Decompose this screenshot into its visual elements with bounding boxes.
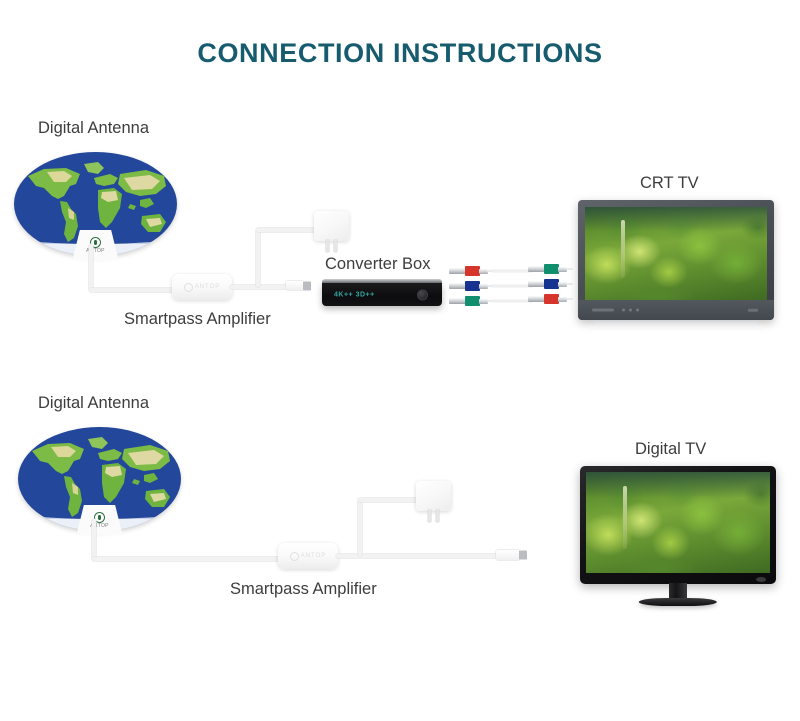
converter-box: 4K++ 3D++ — [322, 279, 442, 306]
amplifier-body: ANTOP — [278, 543, 338, 569]
label-converter-box: Converter Box — [325, 255, 430, 274]
coax-tip — [303, 281, 311, 290]
adapter-prong-left — [326, 240, 329, 252]
rca-ring-green — [465, 296, 480, 306]
smartpass-amplifier-bottom: ANTOP — [278, 543, 338, 569]
rca-ring-red — [465, 266, 480, 276]
label-digital-antenna-top: Digital Antenna — [38, 119, 149, 138]
adapter-body — [314, 211, 349, 241]
screen-forest-image — [585, 207, 767, 300]
rca-plug-red — [449, 266, 493, 276]
rca-ring-blue — [465, 281, 480, 291]
amplifier-logo: ANTOP — [184, 283, 221, 292]
power-adapter-top — [314, 211, 349, 241]
rca-connectors-right — [528, 264, 578, 306]
cable-amp-branch-up-bottom — [358, 499, 362, 556]
digital-tv-screen — [586, 472, 770, 573]
adapter-prong-right — [436, 510, 439, 522]
rca-plug-blue-2 — [528, 279, 572, 289]
cable-antenna-down-bottom — [92, 519, 96, 559]
antenna-logo-tab: ANTOP — [77, 505, 123, 535]
cable-antenna-to-amp-bottom — [92, 557, 284, 561]
crt-tv-base — [594, 320, 759, 325]
crt-tv-speaker-grille — [592, 309, 614, 312]
rca-plug-red-2 — [528, 294, 572, 304]
coax-connector-top — [286, 281, 304, 290]
label-smartpass-amplifier-bottom: Smartpass Amplifier — [230, 580, 377, 599]
amplifier-body: ANTOP — [172, 274, 232, 300]
cable-branch-to-adapter-top — [256, 228, 318, 232]
rca-barrel — [528, 296, 545, 302]
rca-pin — [566, 268, 573, 270]
amplifier-logo-icon — [184, 283, 193, 292]
adapter-prong-right — [334, 240, 337, 252]
converter-power-button[interactable] — [417, 289, 428, 300]
rca-plug-blue — [449, 281, 493, 291]
cable-branch-to-adapter-bottom — [358, 498, 420, 502]
coax-tip — [519, 551, 527, 560]
rca-plug-green — [449, 296, 493, 306]
digital-tv-stand-base — [639, 598, 717, 606]
amplifier-logo: ANTOP — [290, 552, 327, 561]
rca-barrel — [449, 283, 466, 289]
coax-barrel — [496, 550, 520, 560]
label-crt-tv: CRT TV — [640, 174, 699, 193]
rca-pin — [566, 283, 573, 285]
crt-tv — [578, 200, 774, 320]
cable-amp-branch-up-top — [256, 229, 260, 287]
cable-antenna-down-top — [89, 244, 93, 290]
rca-wire-2 — [492, 285, 532, 287]
rca-wire-3 — [492, 300, 532, 302]
coax-barrel — [286, 281, 304, 290]
label-digital-antenna-bottom: Digital Antenna — [38, 394, 149, 413]
rca-wire-1 — [492, 270, 532, 272]
coax-connector-bottom — [496, 550, 520, 560]
amplifier-logo-text: ANTOP — [301, 553, 327, 559]
digital-antenna-top: ANTOP — [14, 152, 177, 256]
rca-ring-red — [544, 294, 559, 304]
label-digital-tv: Digital TV — [635, 440, 706, 459]
amplifier-logo-text: ANTOP — [195, 284, 221, 290]
label-smartpass-amplifier-top: Smartpass Amplifier — [124, 310, 271, 329]
power-adapter-bottom — [416, 481, 451, 511]
crt-tv-led — [748, 309, 758, 312]
digital-antenna-bottom: ANTOP — [18, 427, 181, 531]
crt-tv-screen — [585, 207, 767, 300]
antenna-logo-tab: ANTOP — [73, 230, 119, 260]
crt-tv-buttons[interactable] — [622, 309, 639, 312]
rca-plug-green-2 — [528, 264, 572, 274]
adapter-prong-left — [428, 510, 431, 522]
screen-forest-image — [586, 472, 770, 573]
crt-tv-chin — [578, 300, 774, 320]
converter-face: 4K++ 3D++ — [322, 283, 442, 306]
rca-barrel — [528, 266, 545, 272]
rca-barrel — [449, 298, 466, 304]
adapter-body — [416, 481, 451, 511]
cable-antenna-to-amp-top — [89, 288, 181, 292]
smartpass-amplifier-top: ANTOP — [172, 274, 232, 300]
rca-ring-blue — [544, 279, 559, 289]
amplifier-logo-icon — [290, 552, 299, 561]
rca-barrel — [528, 281, 545, 287]
page-title: CONNECTION INSTRUCTIONS — [0, 38, 800, 69]
rca-ring-green — [544, 264, 559, 274]
digital-tv-brand-mark — [756, 577, 766, 582]
digital-tv — [580, 466, 776, 584]
rca-barrel — [449, 268, 466, 274]
rca-pin — [566, 298, 573, 300]
connection-instructions-diagram: CONNECTION INSTRUCTIONS Digital Antenna — [0, 0, 800, 721]
converter-face-text: 4K++ 3D++ — [334, 291, 375, 298]
